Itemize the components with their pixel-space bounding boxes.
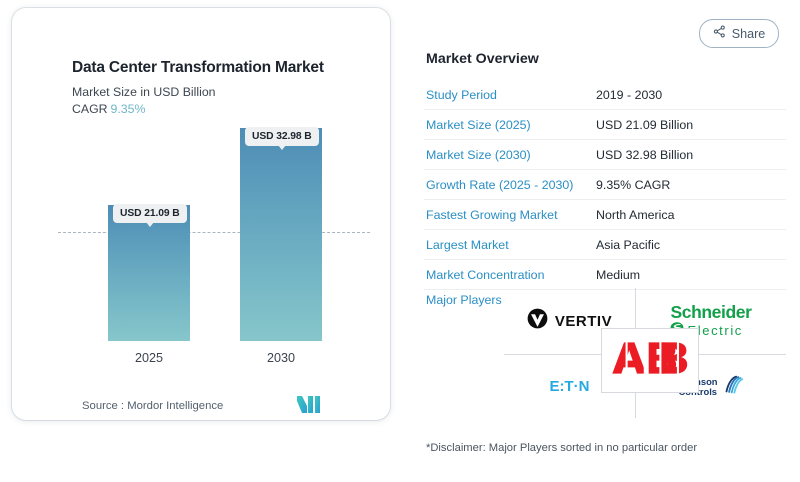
row-value: Medium bbox=[596, 268, 640, 282]
table-row: Largest Market Asia Pacific bbox=[424, 230, 786, 260]
row-key: Market Concentration bbox=[426, 268, 544, 282]
chart-source: Source : Mordor Intelligence bbox=[82, 400, 223, 412]
player-cell-abb[interactable] bbox=[601, 328, 699, 393]
johnson-controls-mark-icon bbox=[723, 374, 744, 400]
chart-cagr: CAGR9.35% bbox=[72, 102, 145, 116]
overview-table: Study Period 2019 - 2030 Market Size (20… bbox=[424, 80, 786, 290]
x-axis-tick-2025: 2025 bbox=[108, 351, 190, 365]
reference-dashed-line bbox=[58, 232, 370, 233]
eaton-logo: E:T·N bbox=[550, 378, 590, 395]
vertiv-mark-icon bbox=[527, 308, 548, 334]
major-players-logo-grid: VERTIV Schneider Electric bbox=[504, 288, 786, 418]
row-key: Largest Market bbox=[426, 238, 509, 252]
share-button[interactable]: Share bbox=[699, 19, 779, 48]
cagr-value: 9.35% bbox=[111, 102, 146, 116]
overview-title: Market Overview bbox=[426, 51, 539, 67]
row-key: Study Period bbox=[426, 88, 497, 102]
table-row: Growth Rate (2025 - 2030) 9.35% CAGR bbox=[424, 170, 786, 200]
bar-value-label-2025: USD 21.09 B bbox=[113, 204, 187, 223]
vertiv-wordmark: VERTIV bbox=[555, 313, 612, 330]
row-value: North America bbox=[596, 208, 675, 222]
vertiv-logo: VERTIV bbox=[527, 308, 612, 334]
share-nodes-icon bbox=[713, 25, 726, 43]
bar-chart-plot: USD 21.09 B USD 32.98 B 2025 2030 bbox=[24, 118, 380, 368]
cagr-label: CAGR bbox=[72, 102, 108, 116]
major-players-label: Major Players bbox=[426, 293, 502, 307]
row-key: Market Size (2025) bbox=[426, 118, 531, 132]
bar-value-label-2030: USD 32.98 B bbox=[245, 127, 319, 146]
row-value: 9.35% CAGR bbox=[596, 178, 670, 192]
abb-logo bbox=[611, 341, 689, 380]
row-key: Market Size (2030) bbox=[426, 148, 531, 162]
table-row: Market Size (2025) USD 21.09 Billion bbox=[424, 110, 786, 140]
chart-title: Data Center Transformation Market bbox=[72, 59, 324, 77]
table-row: Study Period 2019 - 2030 bbox=[424, 80, 786, 110]
row-key: Growth Rate (2025 - 2030) bbox=[426, 178, 573, 192]
x-axis-tick-2030: 2030 bbox=[240, 351, 322, 365]
schneider-wordmark: Schneider bbox=[670, 304, 751, 322]
chart-subtitle: Market Size in USD Billion bbox=[72, 85, 216, 99]
row-value: 2019 - 2030 bbox=[596, 88, 662, 102]
market-snapshot-page: Data Center Transformation Market Market… bbox=[0, 0, 800, 482]
bar-2030[interactable] bbox=[240, 128, 322, 341]
row-value: Asia Pacific bbox=[596, 238, 660, 252]
row-value: USD 21.09 Billion bbox=[596, 118, 693, 132]
chart-card: Data Center Transformation Market Market… bbox=[12, 8, 390, 420]
players-disclaimer: *Disclaimer: Major Players sorted in no … bbox=[426, 442, 697, 454]
row-key: Fastest Growing Market bbox=[426, 208, 558, 222]
table-row: Fastest Growing Market North America bbox=[424, 200, 786, 230]
share-button-label: Share bbox=[732, 27, 766, 41]
row-value: USD 32.98 Billion bbox=[596, 148, 693, 162]
table-row: Market Size (2030) USD 32.98 Billion bbox=[424, 140, 786, 170]
table-row: Market Concentration Medium bbox=[424, 260, 786, 290]
market-overview-panel: Share Market Overview Study Period 2019 … bbox=[424, 0, 786, 482]
mordor-intelligence-logo-icon bbox=[297, 396, 321, 413]
